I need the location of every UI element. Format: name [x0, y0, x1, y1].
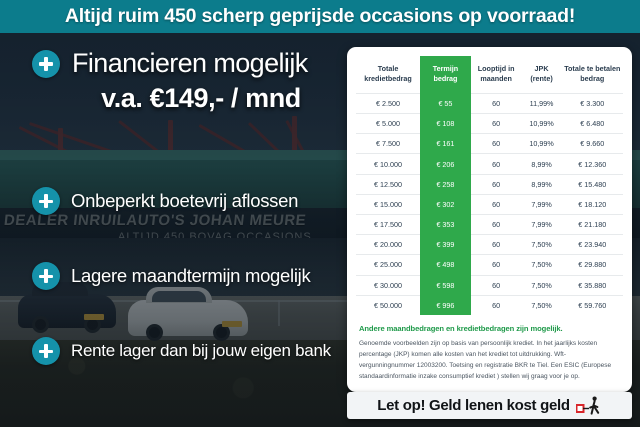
- table-row: € 15.000€ 302607,99%€ 18.120: [356, 194, 623, 214]
- bullet-label-2: Lagere maandtermijn mogelijk: [71, 265, 310, 287]
- cell-looptijd: 60: [471, 194, 522, 214]
- cell-jkp: 7,99%: [522, 215, 562, 235]
- cell-termijn: € 353: [420, 215, 471, 235]
- bullet-item-1: Onbeperkt boetevrij aflossen: [32, 187, 298, 215]
- cell-krediet: € 7.500: [356, 134, 420, 154]
- cell-krediet: € 5.000: [356, 114, 420, 134]
- credit-warning-bar: Let op! Geld lenen kost geld: [347, 392, 632, 419]
- cell-krediet: € 10.000: [356, 154, 420, 174]
- cell-totaal: € 9.660: [562, 134, 623, 154]
- plus-circle-icon: [32, 262, 60, 290]
- table-header-row: Totale kredietbedrag Termijn bedrag Loop…: [356, 57, 623, 94]
- credit-warning-text: Let op! Geld lenen kost geld: [377, 397, 569, 414]
- cell-jkp: 7,50%: [522, 295, 562, 315]
- cell-totaal: € 21.180: [562, 215, 623, 235]
- bullet-label-3: Rente lager dan bij jouw eigen bank: [71, 341, 331, 361]
- cell-totaal: € 35.880: [562, 275, 623, 295]
- table-row: € 2.500€ 556011,99%€ 3.300: [356, 93, 623, 113]
- cell-looptijd: 60: [471, 114, 522, 134]
- plus-circle-icon: [32, 337, 60, 365]
- table-row: € 17.500€ 353607,99%€ 21.180: [356, 215, 623, 235]
- cell-krediet: € 25.000: [356, 255, 420, 275]
- promo-bullet-list: Financieren mogelijk v.a. €149,- / mnd O…: [0, 33, 348, 427]
- cell-totaal: € 59.760: [562, 295, 623, 315]
- cell-looptijd: 60: [471, 275, 522, 295]
- cell-jkp: 7,50%: [522, 275, 562, 295]
- column-header-looptijd: Looptijd in maanden: [471, 57, 522, 94]
- cell-jkp: 7,99%: [522, 194, 562, 214]
- cell-jkp: 7,50%: [522, 235, 562, 255]
- walking-man-logo: [576, 396, 602, 415]
- advertisement-banner: DEALER INRUILAUTO'S JOHAN MEURE ALTIJD 4…: [0, 0, 640, 427]
- table-row: € 7.500€ 1616010,99%€ 9.660: [356, 134, 623, 154]
- table-row: € 10.000€ 206608,99%€ 12.360: [356, 154, 623, 174]
- cell-totaal: € 29.880: [562, 255, 623, 275]
- cell-looptijd: 60: [471, 174, 522, 194]
- cell-totaal: € 12.360: [562, 154, 623, 174]
- table-row: € 25.000€ 498607,50%€ 29.880: [356, 255, 623, 275]
- bullet-item-3: Rente lager dan bij jouw eigen bank: [32, 337, 331, 365]
- cell-krediet: € 30.000: [356, 275, 420, 295]
- cell-termijn: € 161: [420, 134, 471, 154]
- cell-termijn: € 399: [420, 235, 471, 255]
- cell-termijn: € 302: [420, 194, 471, 214]
- table-body: € 2.500€ 556011,99%€ 3.300€ 5.000€ 10860…: [356, 93, 623, 315]
- plus-circle-icon: [32, 50, 60, 78]
- fineprint-body: Genoemde voorbeelden zijn op basis van p…: [359, 338, 620, 383]
- bullet-label-1: Onbeperkt boetevrij aflossen: [71, 190, 298, 212]
- table-row: € 30.000€ 598607,50%€ 35.880: [356, 275, 623, 295]
- column-header-krediet: Totale kredietbedrag: [356, 57, 420, 94]
- cell-krediet: € 12.500: [356, 174, 420, 194]
- cell-totaal: € 6.480: [562, 114, 623, 134]
- cell-jkp: 10,99%: [522, 134, 562, 154]
- credit-rate-table: Totale kredietbedrag Termijn bedrag Loop…: [356, 56, 623, 315]
- promo-headline-line2: v.a. €149,- / mnd: [54, 83, 348, 114]
- cell-totaal: € 18.120: [562, 194, 623, 214]
- cell-termijn: € 598: [420, 275, 471, 295]
- cell-looptijd: 60: [471, 93, 522, 113]
- cell-looptijd: 60: [471, 215, 522, 235]
- cell-jkp: 8,99%: [522, 154, 562, 174]
- cell-termijn: € 258: [420, 174, 471, 194]
- cell-krediet: € 50.000: [356, 295, 420, 315]
- cell-totaal: € 3.300: [562, 93, 623, 113]
- cell-looptijd: 60: [471, 295, 522, 315]
- top-banner: Altijd ruim 450 scherp geprijsde occasio…: [0, 0, 640, 33]
- cell-termijn: € 206: [420, 154, 471, 174]
- column-header-totaal: Totale te betalen bedrag: [562, 57, 623, 94]
- cell-krediet: € 15.000: [356, 194, 420, 214]
- plus-circle-icon: [32, 187, 60, 215]
- table-row: € 20.000€ 399607,50%€ 23.940: [356, 235, 623, 255]
- cell-krediet: € 20.000: [356, 235, 420, 255]
- cell-looptijd: 60: [471, 134, 522, 154]
- cell-jkp: 8,99%: [522, 174, 562, 194]
- promo-headline-line1: Financieren mogelijk: [72, 48, 308, 79]
- table-row: € 5.000€ 1086010,99%€ 6.480: [356, 114, 623, 134]
- cell-termijn: € 108: [420, 114, 471, 134]
- table-row: € 12.500€ 258608,99%€ 15.480: [356, 174, 623, 194]
- cell-jkp: 7,50%: [522, 255, 562, 275]
- cell-totaal: € 15.480: [562, 174, 623, 194]
- column-header-jkp: JPK (rente): [522, 57, 562, 94]
- cell-krediet: € 2.500: [356, 93, 420, 113]
- cell-jkp: 11,99%: [522, 93, 562, 113]
- rate-table-panel: Totale kredietbedrag Termijn bedrag Loop…: [347, 47, 632, 392]
- top-banner-text: Altijd ruim 450 scherp geprijsde occasio…: [65, 5, 575, 28]
- cell-looptijd: 60: [471, 154, 522, 174]
- cell-termijn: € 498: [420, 255, 471, 275]
- bullet-item-2: Lagere maandtermijn mogelijk: [32, 262, 310, 290]
- fineprint-heading: Andere maandbedragen en kredietbedragen …: [359, 324, 620, 333]
- table-row: € 50.000€ 996607,50%€ 59.760: [356, 295, 623, 315]
- cell-jkp: 10,99%: [522, 114, 562, 134]
- cell-termijn: € 55: [420, 93, 471, 113]
- cell-krediet: € 17.500: [356, 215, 420, 235]
- cell-looptijd: 60: [471, 235, 522, 255]
- cell-looptijd: 60: [471, 255, 522, 275]
- cell-termijn: € 996: [420, 295, 471, 315]
- cell-totaal: € 23.940: [562, 235, 623, 255]
- fineprint-block: Andere maandbedragen en kredietbedragen …: [356, 315, 623, 383]
- promo-headline: Financieren mogelijk v.a. €149,- / mnd: [32, 48, 348, 114]
- column-header-termijn: Termijn bedrag: [420, 57, 471, 94]
